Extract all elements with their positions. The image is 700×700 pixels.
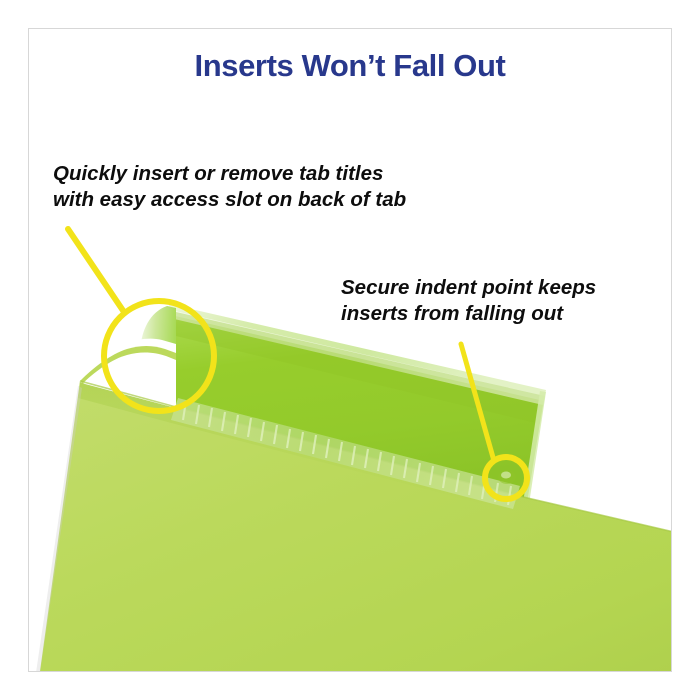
product-photo-svg xyxy=(0,0,700,700)
page-title: Inserts Won’t Fall Out xyxy=(0,48,700,84)
leader-line-easy-access-slot xyxy=(68,229,124,312)
callout-secure-indent-point-line1: Secure indent point keeps xyxy=(341,275,596,301)
callout-secure-indent-point: Secure indent point keeps inserts from f… xyxy=(341,275,596,327)
indent-point-highlight xyxy=(501,472,511,479)
callout-easy-access-slot: Quickly insert or remove tab titles with… xyxy=(53,161,406,213)
product-feature-card: Inserts Won’t Fall Out Quickly insert or… xyxy=(0,0,700,700)
callout-easy-access-slot-line2: with easy access slot on back of tab xyxy=(53,187,406,213)
product-photo xyxy=(0,0,700,700)
callout-easy-access-slot-line1: Quickly insert or remove tab titles xyxy=(53,161,406,187)
callout-secure-indent-point-line2: inserts from falling out xyxy=(341,301,596,327)
